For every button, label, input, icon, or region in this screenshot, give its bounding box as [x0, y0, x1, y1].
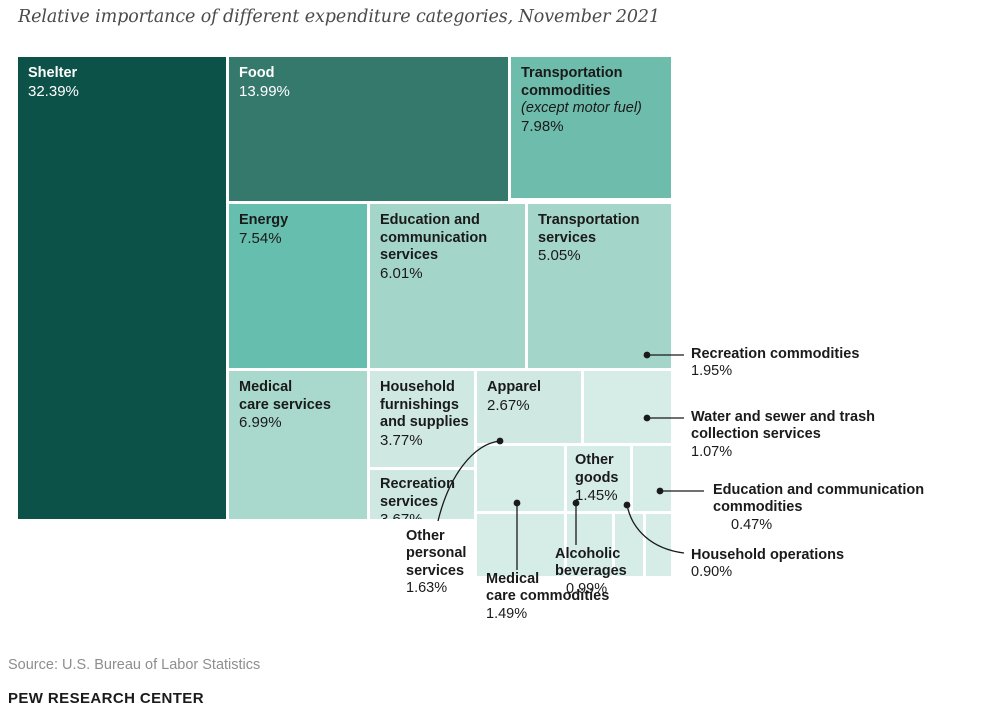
treemap-cell-shelter[interactable]: Shelter 32.39% [18, 57, 226, 519]
callout-name: Recreation commodities [691, 346, 859, 363]
treemap-cell-other-personal-services[interactable] [477, 446, 564, 511]
treemap-cell-food[interactable]: Food 13.99% [229, 57, 508, 201]
callout-recreation-commodities: Recreation commodities 1.95% [691, 346, 859, 381]
cell-value: 1.45% [575, 487, 626, 505]
callout-alcoholic-beverages: Alcoholic beverages 0.99% [555, 546, 627, 598]
treemap-cell-other-goods[interactable]: Other goods 1.45% [567, 446, 630, 511]
treemap-cell-transportation-commodities[interactable]: Transportation commodities (except motor… [511, 57, 671, 198]
cell-label-group: Education and communication services 6.0… [380, 212, 521, 283]
cell-label-group: Medical care services 6.99% [239, 379, 363, 433]
organization-name: PEW RESEARCH CENTER [8, 690, 204, 707]
cell-label-group: Food 13.99% [239, 65, 504, 101]
cell-value: 7.54% [239, 230, 363, 248]
treemap-cell-recreation-commodities[interactable] [584, 371, 671, 443]
source-note: Source: U.S. Bureau of Labor Statistics [8, 657, 260, 673]
cell-name: Recreation services [380, 476, 470, 511]
cell-label-group: Household furnishings and supplies 3.77% [380, 379, 470, 450]
cell-value: 2.67% [487, 397, 577, 415]
cell-name: Shelter [28, 65, 222, 83]
cell-label-group: Other goods 1.45% [575, 452, 626, 506]
callout-name: Household operations [691, 547, 844, 564]
callout-name: Other personal services [406, 528, 466, 580]
treemap-cell-transportation-services[interactable]: Transportation services 5.05% [528, 204, 671, 368]
treemap-cell-recreation-services[interactable]: Recreation services 3.67% [370, 470, 474, 519]
callout-value: 1.07% [691, 444, 875, 461]
treemap-chart: Shelter 32.39% Food 13.99% Transportatio… [18, 57, 671, 519]
callout-value: 1.95% [691, 363, 859, 380]
cell-label-group: Transportation services 5.05% [538, 212, 667, 266]
callout-name: Alcoholic beverages [555, 546, 627, 581]
callout-value: 0.90% [691, 564, 844, 581]
cell-name: Education and communication services [380, 212, 521, 265]
cell-label-group: Apparel 2.67% [487, 379, 577, 415]
cell-label-group: Energy 7.54% [239, 212, 363, 248]
cell-name: Household furnishings and supplies [380, 379, 470, 432]
cell-name: Other goods [575, 452, 626, 487]
callout-water-sewer-trash: Water and sewer and trash collection ser… [691, 409, 875, 461]
treemap-cell-education-communication-commodities[interactable] [646, 514, 671, 576]
treemap-cell-household-furnishings-and-supplies[interactable]: Household furnishings and supplies 3.77% [370, 371, 474, 467]
cell-value: 3.77% [380, 432, 470, 450]
treemap-cell-medical-care-commodities[interactable] [477, 514, 564, 576]
treemap-cell-energy[interactable]: Energy 7.54% [229, 204, 367, 368]
cell-value: 5.05% [538, 247, 667, 265]
callout-value: 0.47% [713, 517, 924, 534]
cell-value: 7.98% [521, 118, 667, 136]
callout-name: Education and communication commodities [713, 482, 924, 517]
cell-label-group: Recreation services 3.67% [380, 476, 470, 519]
callout-other-personal-services: Other personal services 1.63% [406, 528, 466, 598]
treemap-cell-water-sewer-trash-collection-services[interactable] [633, 446, 671, 511]
cell-value: 13.99% [239, 83, 504, 101]
cell-value: 6.01% [380, 265, 521, 283]
cell-name: Apparel [487, 379, 577, 397]
treemap-cell-education-communication-services[interactable]: Education and communication services 6.0… [370, 204, 525, 368]
cell-name: Transportation commodities [521, 65, 667, 100]
callout-name: Water and sewer and trash collection ser… [691, 409, 875, 444]
cell-name: Food [239, 65, 504, 83]
page-title: Relative importance of different expendi… [18, 7, 958, 27]
cell-name: Transportation services [538, 212, 667, 247]
cell-subtitle: (except motor fuel) [521, 100, 667, 118]
callout-value: 1.63% [406, 580, 466, 597]
cell-value: 6.99% [239, 414, 363, 432]
cell-value: 32.39% [28, 83, 222, 101]
cell-name: Energy [239, 212, 363, 230]
cell-label-group: Shelter 32.39% [28, 65, 222, 101]
cell-name: Medical care services [239, 379, 363, 414]
cell-label-group: Transportation commodities (except motor… [521, 65, 667, 136]
treemap-cell-medical-care-services[interactable]: Medical care services 6.99% [229, 371, 367, 519]
callout-value: 0.99% [555, 581, 627, 598]
callout-education-communication-commodities: Education and communication commodities … [713, 482, 924, 534]
callout-value: 1.49% [486, 606, 609, 623]
callout-household-operations: Household operations 0.90% [691, 547, 844, 582]
treemap-cell-apparel[interactable]: Apparel 2.67% [477, 371, 581, 443]
cell-value: 3.67% [380, 511, 470, 519]
